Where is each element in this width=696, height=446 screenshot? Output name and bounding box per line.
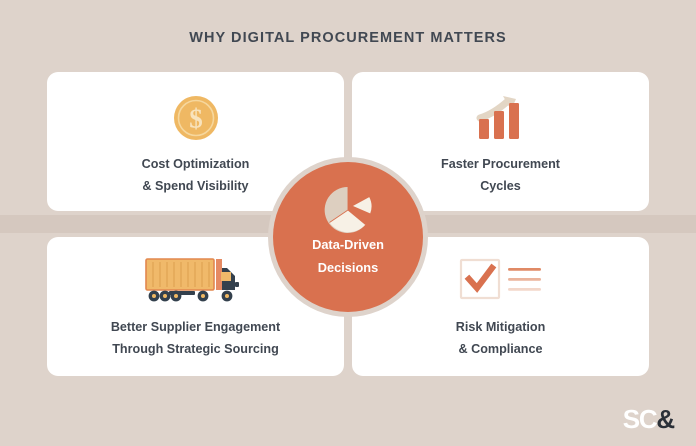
logo-text-secondary: & bbox=[656, 404, 674, 434]
card-label-line1: Cost Optimization bbox=[142, 157, 250, 171]
page-title: WHY DIGITAL PROCUREMENT MATTERS bbox=[0, 30, 696, 46]
card-label-line2: Through Strategic Sourcing bbox=[47, 339, 344, 361]
hub-label-line2: Decisions bbox=[273, 257, 423, 280]
logo-text-primary: SC bbox=[623, 404, 657, 434]
brand-logo[interactable]: SC& bbox=[623, 406, 674, 432]
pie-chart-icon bbox=[273, 184, 423, 236]
hub-label-line1: Data-Driven bbox=[312, 237, 384, 252]
growth-bar-chart-icon bbox=[352, 90, 649, 146]
card-label-supplier-engagement: Better Supplier Engagement Through Strat… bbox=[47, 317, 344, 360]
card-label-line1: Faster Procurement bbox=[441, 157, 560, 171]
card-label-line1: Better Supplier Engagement bbox=[111, 320, 280, 334]
card-label-line2: & Compliance bbox=[352, 339, 649, 361]
hub-label: Data-Driven Decisions bbox=[273, 234, 423, 280]
center-hub[interactable]: Data-Driven Decisions bbox=[273, 162, 423, 312]
infographic-canvas: WHY DIGITAL PROCUREMENT MATTERS $ Cost O… bbox=[0, 0, 696, 446]
card-label-risk-mitigation: Risk Mitigation & Compliance bbox=[352, 317, 649, 360]
card-label-line1: Risk Mitigation bbox=[456, 320, 546, 334]
svg-text:$: $ bbox=[189, 104, 203, 134]
dollar-coin-icon: $ bbox=[47, 90, 344, 146]
